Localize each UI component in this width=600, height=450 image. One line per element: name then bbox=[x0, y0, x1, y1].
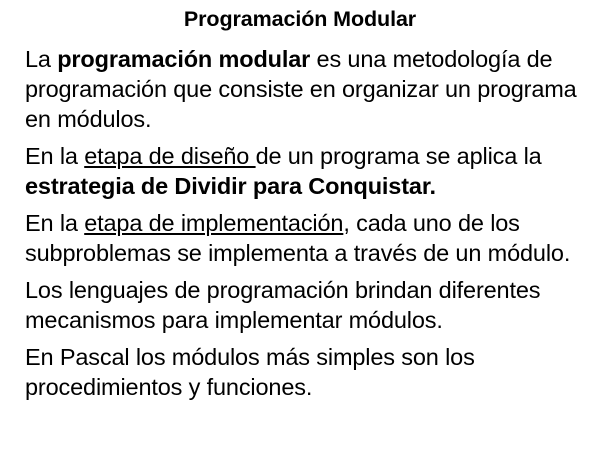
text-run: Los lenguajes de programación brindan di… bbox=[25, 277, 540, 333]
text-run-bold: programación modular bbox=[57, 46, 310, 72]
paragraph-3: En la etapa de implementación, cada uno … bbox=[25, 208, 581, 268]
paragraph-2: En la etapa de diseño de un programa se … bbox=[25, 141, 581, 201]
text-run: de un programa se aplica la bbox=[256, 143, 542, 169]
text-run-underline: etapa de implementación bbox=[84, 210, 343, 236]
slide-body: La programación modular es una metodolog… bbox=[25, 44, 581, 402]
paragraph-4: Los lenguajes de programación brindan di… bbox=[25, 275, 581, 335]
text-run: En la bbox=[25, 210, 84, 236]
slide-canvas: Programación Modular La programación mod… bbox=[0, 0, 600, 450]
paragraph-5: En Pascal los módulos más simples son lo… bbox=[25, 342, 581, 402]
text-run: En la bbox=[25, 143, 84, 169]
text-run: En Pascal los módulos más simples son lo… bbox=[25, 344, 475, 400]
text-run-bold: estrategia de Dividir para Conquistar. bbox=[25, 173, 436, 199]
slide-title: Programación Modular bbox=[0, 6, 600, 32]
text-run-underline: etapa de diseño bbox=[84, 143, 255, 169]
paragraph-1: La programación modular es una metodolog… bbox=[25, 44, 581, 134]
text-run: La bbox=[25, 46, 57, 72]
